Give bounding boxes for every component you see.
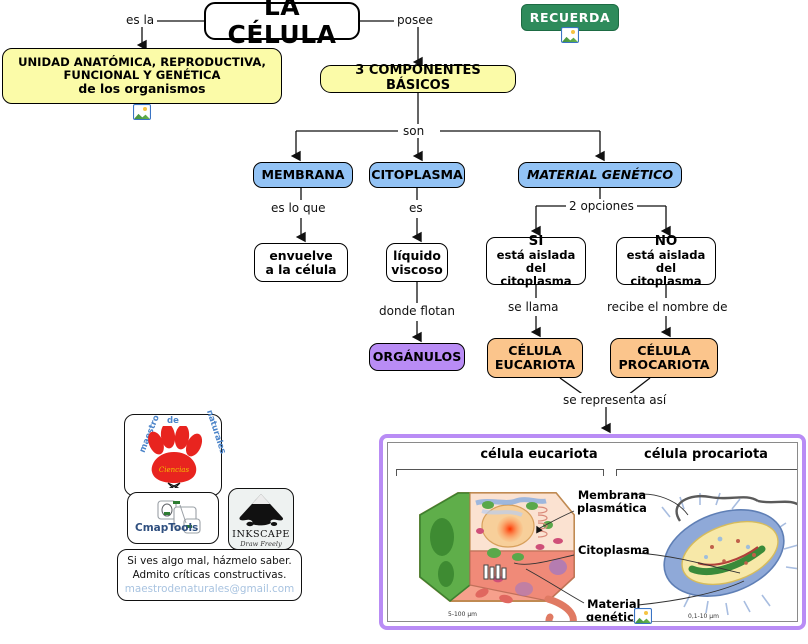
annotation-leader-lines xyxy=(388,443,798,622)
link-label-es-la: es la xyxy=(123,13,157,27)
cell-diagram-inner: célula eucariota célula procariota xyxy=(387,442,798,622)
sun-glyph xyxy=(644,611,648,615)
link-label-recibe-nombre: recibe el nombre de xyxy=(604,300,730,314)
scale-bar-eucariota xyxy=(396,621,598,622)
inkscape-blot-icon xyxy=(230,491,292,531)
node-celula-eucariota[interactable]: CÉLULA EUCARIOTA xyxy=(487,338,583,378)
recuerda-label: RECUERDA xyxy=(530,11,611,25)
node-organulos[interactable]: ORGÁNULOS xyxy=(369,343,465,371)
link-label-es: es xyxy=(406,201,426,215)
link-label-son: son xyxy=(400,124,427,138)
title-label: LA CÉLULA xyxy=(212,0,352,49)
si-head: SI xyxy=(529,234,544,249)
sun-glyph xyxy=(143,107,147,111)
node-unidad-anatomica[interactable]: UNIDAD ANATÓMICA, REPRODUCTIVA, FUNCIONA… xyxy=(2,48,282,104)
anno-membrana-line-2: plasmática xyxy=(577,502,647,515)
liquido-line-2: viscoso xyxy=(391,263,442,277)
envuelve-line-2: a la célula xyxy=(265,263,336,277)
logo-text-right: naturales xyxy=(204,409,228,455)
procariota-line-1: CÉLULA xyxy=(637,344,690,358)
logo-inkscape: INKSCAPE Draw Freely xyxy=(228,488,294,550)
credit-email[interactable]: maestrodenaturales@gmail.com xyxy=(125,582,294,596)
cmaptools-label: CmapTools xyxy=(135,522,198,534)
si-line-2: del citoplasma xyxy=(493,262,579,288)
sun-glyph xyxy=(571,30,575,34)
unidad-line-3: de los organismos xyxy=(78,82,205,96)
scale-bar-procariota xyxy=(650,621,798,622)
cmap-nodes-icon xyxy=(128,493,218,543)
organulos-label: ORGÁNULOS xyxy=(373,350,462,364)
image-icon[interactable] xyxy=(561,27,579,43)
credit-line-2: Admito críticas constructivas. xyxy=(133,568,287,582)
annotation-citoplasma: Citoplasma xyxy=(578,544,650,557)
anno-membrana-line-1: Membrana xyxy=(577,489,647,502)
logo-text-mid: de xyxy=(167,416,179,426)
scale-label-procariota: 0,1-10 µm xyxy=(688,613,719,620)
inkscape-label: INKSCAPE xyxy=(229,529,293,540)
node-celula-procariota[interactable]: CÉLULA PROCARIOTA xyxy=(610,338,718,378)
no-head: NO xyxy=(655,234,678,249)
liquido-line-1: líquido xyxy=(393,249,441,263)
node-material-genetico[interactable]: MATERIAL GENÉTICO xyxy=(518,162,682,188)
link-label-posee: posee xyxy=(394,13,436,27)
link-label-donde-flotan: donde flotan xyxy=(376,304,458,318)
paw-print-icon: Ciencias xyxy=(140,426,206,488)
link-label-se-representa: se representa así xyxy=(560,393,669,407)
paw-inner-text: Ciencias xyxy=(159,466,190,474)
eucariota-line-1: CÉLULA xyxy=(508,344,561,358)
scale-label-eucariota: 5-100 µm xyxy=(448,611,477,618)
citoplasma-label: CITOPLASMA xyxy=(371,168,463,182)
concept-map-canvas: LA CÉLULA UNIDAD ANATÓMICA, REPRODUCTIVA… xyxy=(0,0,808,644)
node-membrana[interactable]: MEMBRANA xyxy=(253,162,353,188)
image-icon[interactable] xyxy=(133,104,151,120)
inkscape-tagline: Draw Freely xyxy=(229,540,293,548)
membrana-label: MEMBRANA xyxy=(262,168,345,182)
credit-line-1: Si ves algo mal, házmelo saber. xyxy=(127,554,291,568)
no-line-2: del citoplasma xyxy=(623,262,709,288)
logo-cmaptools: CmapTools xyxy=(127,492,219,544)
node-si-esta-aislada[interactable]: SI está aislada del citoplasma xyxy=(486,237,586,285)
node-citoplasma[interactable]: CITOPLASMA xyxy=(369,162,465,188)
credits-box: Si ves algo mal, házmelo saber. Admito c… xyxy=(117,549,302,601)
link-label-2-opciones: 2 opciones xyxy=(566,199,637,213)
image-icon[interactable] xyxy=(634,608,652,624)
eucariota-line-2: EUCARIOTA xyxy=(495,358,575,372)
logo-maestro-de-naturales: maestro de naturales Ciencias xyxy=(124,414,222,496)
link-label-es-lo-que: es lo que xyxy=(268,201,329,215)
node-envuelve-a-la-celula[interactable]: envuelve a la célula xyxy=(254,243,348,282)
node-no-esta-aislada[interactable]: NO está aislada del citoplasma xyxy=(616,237,716,285)
cell-diagram-frame[interactable]: célula eucariota célula procariota xyxy=(379,434,806,630)
link-label-se-llama: se llama xyxy=(505,300,562,314)
node-3-componentes-basicos[interactable]: 3 COMPONENTES BÁSICOS xyxy=(320,65,516,93)
envuelve-line-1: envuelve xyxy=(269,249,332,263)
node-liquido-viscoso[interactable]: líquido viscoso xyxy=(386,243,448,282)
annotation-membrana-plasmatica: Membrana plasmática xyxy=(577,489,647,514)
componentes-label: 3 COMPONENTES BÁSICOS xyxy=(327,64,509,93)
material-label: MATERIAL GENÉTICO xyxy=(527,168,673,182)
procariota-line-2: PROCARIOTA xyxy=(618,358,709,372)
node-la-celula[interactable]: LA CÉLULA xyxy=(204,2,360,40)
